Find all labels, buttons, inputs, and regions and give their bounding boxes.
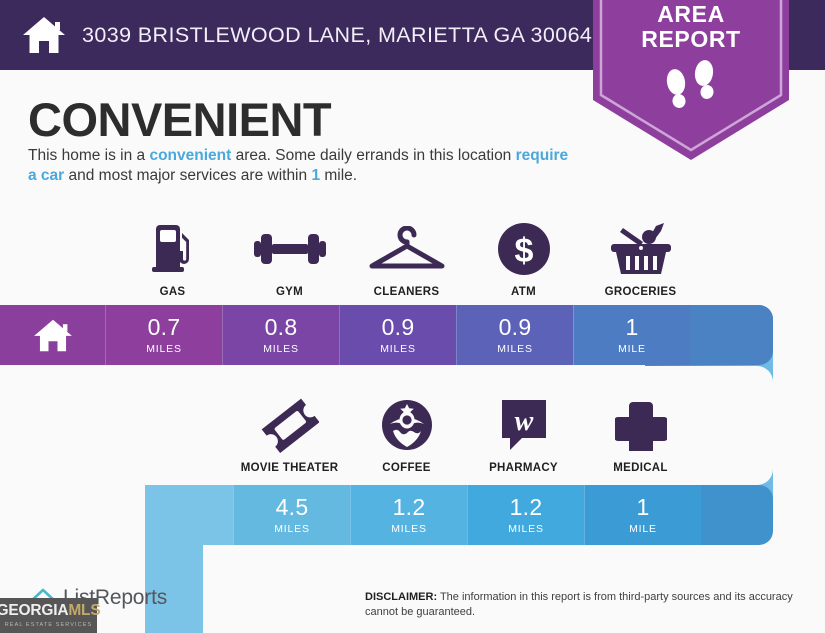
distance-unit: MILES (146, 343, 182, 355)
distance-value: 0.9 (499, 316, 532, 339)
amenity-pharmacy: w PHARMACY (465, 396, 582, 474)
distance-unit: MILES (380, 343, 416, 355)
disclaimer-label: DISCLAIMER: (365, 591, 437, 603)
distance-value: 0.8 (265, 316, 298, 339)
distance-home-segment (0, 305, 105, 365)
distance-bar-secondary: 4.5 MILES 1.2 MILES 1.2 MILES 1 MILE (145, 485, 773, 545)
amenity-label: ATM (511, 286, 536, 298)
area-report-page: 3039 BRISTLEWOOD LANE, MARIETTA GA 30064… (0, 0, 825, 633)
distance-segment-atm: 0.9 MILES (456, 305, 573, 365)
starbucks-icon (380, 396, 434, 454)
amenity-cleaners: CLEANERS (348, 220, 465, 298)
medical-cross-icon (615, 396, 667, 454)
footer-card (203, 545, 825, 633)
amenity-label: CLEANERS (374, 286, 440, 298)
amenity-icon-row-primary: GAS GYM (114, 220, 699, 298)
amenity-gas: GAS (114, 220, 231, 298)
amenity-label: MOVIE THEATER (241, 462, 339, 474)
distance-unit: MILES (497, 343, 533, 355)
property-address: 3039 BRISTLEWOOD LANE, MARIETTA GA 30064 (82, 23, 592, 48)
distance-unit: MILES (391, 523, 427, 535)
distance-bar-primary: 0.7 MILES 0.8 MILES 0.9 MILES 0.9 MILES … (0, 305, 773, 365)
dumbbell-icon (254, 220, 326, 278)
distance-segment-groceries: 1 MILE (573, 305, 690, 365)
distance-unit: MILES (508, 523, 544, 535)
distance-segment-movie-theater: 4.5 MILES (233, 485, 350, 545)
grocery-basket-icon (609, 220, 673, 278)
distance-segment-coffee: 1.2 MILES (350, 485, 467, 545)
summary-description: This home is in a convenient area. Some … (28, 146, 573, 186)
distance-unit: MILES (274, 523, 310, 535)
dollar-circle-icon: $ (497, 220, 551, 278)
amenity-groceries: GROCERIES (582, 220, 699, 298)
amenity-label: GAS (160, 286, 186, 298)
distance-unit: MILE (629, 523, 657, 535)
disclaimer-text: DISCLAIMER: The information in this repo… (365, 590, 805, 619)
distance-value: 0.7 (148, 316, 181, 339)
area-report-badge: AREA REPORT (593, 0, 789, 162)
house-icon (22, 15, 66, 55)
amenity-icon-row-secondary: MOVIE THEATER COFFEE (231, 396, 699, 474)
desc-part-4: mile. (320, 167, 357, 184)
amenity-medical: MEDICAL (582, 396, 699, 474)
distance-value: 1.2 (510, 496, 543, 519)
movie-ticket-icon (261, 396, 319, 454)
amenity-coffee: COFFEE (348, 396, 465, 474)
georgia-mls-logo: GEORGIAMLS REAL ESTATE SERVICES (0, 598, 97, 633)
gas-pump-icon (146, 220, 200, 278)
distance-value: 1 (625, 316, 638, 339)
distance-value: 4.5 (276, 496, 309, 519)
distance-unit: MILE (618, 343, 646, 355)
amenity-gym: GYM (231, 220, 348, 298)
mls-suffix: MLS (68, 602, 100, 619)
walgreens-w-icon: w (499, 396, 549, 454)
distance-segment-cleaners: 0.9 MILES (339, 305, 456, 365)
distance-segment-gym: 0.8 MILES (222, 305, 339, 365)
distance-bar-tail (701, 485, 773, 545)
amenity-atm: $ ATM (465, 220, 582, 298)
amenity-label: GYM (276, 286, 303, 298)
svg-text:$: $ (514, 232, 533, 270)
desc-part-2: area. Some daily errands in this locatio… (231, 147, 515, 164)
amenity-label: PHARMACY (489, 462, 558, 474)
distance-value: 1.2 (393, 496, 426, 519)
amenity-label: GROCERIES (605, 286, 677, 298)
distance-unit: MILES (263, 343, 299, 355)
distance-bar-tail (690, 305, 773, 365)
amenity-movie-theater: MOVIE THEATER (231, 396, 348, 474)
distance-segment-gas: 0.7 MILES (105, 305, 222, 365)
distance-value: 0.9 (382, 316, 415, 339)
distance-segment-pharmacy: 1.2 MILES (467, 485, 584, 545)
desc-part-1: This home is in a (28, 147, 149, 164)
mls-tagline: REAL ESTATE SERVICES (5, 622, 93, 628)
desc-highlight-1: convenient (149, 147, 231, 164)
amenity-label: MEDICAL (613, 462, 668, 474)
distance-value: 1 (636, 496, 649, 519)
svg-text:w: w (514, 406, 533, 437)
page-title: CONVENIENT (28, 92, 331, 147)
desc-part-3: and most major services are within (64, 167, 311, 184)
amenity-label: COFFEE (382, 462, 430, 474)
distance-segment-medical: 1 MILE (584, 485, 701, 545)
pennant-shape (593, 0, 789, 162)
mls-brand: GEORGIA (0, 602, 68, 619)
hanger-icon (366, 220, 448, 278)
distance-bar-lead (145, 485, 233, 545)
house-icon (33, 317, 73, 353)
desc-highlight-3: 1 (311, 167, 320, 184)
